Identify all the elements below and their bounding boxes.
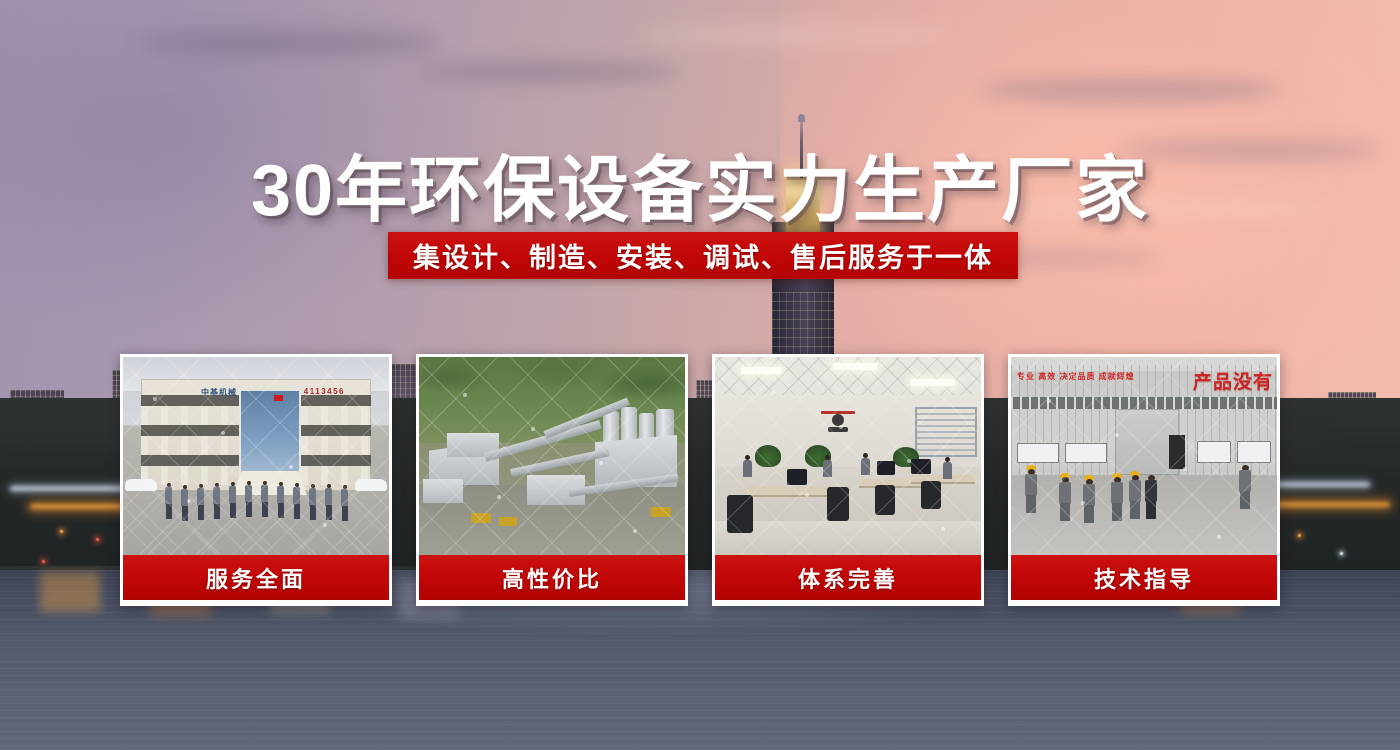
cloud (420, 62, 680, 82)
tower-mast-tip (798, 114, 805, 122)
card-photo-open-plan-office-interior-staff (715, 357, 981, 555)
card-caption-label: 高性价比 (502, 562, 602, 594)
card-caption: 服务全面 (123, 555, 389, 600)
feature-card[interactable]: 产品没有 专业 高效 决定品质 成就辉煌 (1008, 354, 1280, 606)
card-caption: 高性价比 (419, 555, 685, 600)
cloud (980, 78, 1280, 102)
subtitle-text: 集设计、制造、安装、调试、售后服务于一体 (413, 236, 993, 275)
card-photo-factory-workers-briefing-outdoors: 产品没有 专业 高效 决定品质 成就辉煌 (1011, 357, 1277, 555)
card-caption-label: 服务全面 (206, 562, 306, 594)
photo-phone-number: 4113456 (304, 387, 345, 396)
feature-card-row: 中基机械 4113456 (120, 354, 1280, 606)
card-caption-label: 技术指导 (1094, 562, 1194, 594)
factory-wall-slogan-small: 专业 高效 决定品质 成就辉煌 (1017, 371, 1135, 382)
photo-company-sign: 中基机械 (201, 387, 237, 398)
card-caption: 技术指导 (1011, 555, 1277, 600)
wall-decal-icon (819, 409, 857, 435)
factory-wall-slogan: 产品没有 (1193, 367, 1273, 394)
cloud (140, 30, 440, 56)
water-reflection (40, 572, 100, 612)
feature-card[interactable]: 中基机械 4113456 (120, 354, 392, 606)
card-caption-label: 体系完善 (798, 562, 898, 594)
subtitle-banner: 集设计、制造、安装、调试、售后服务于一体 (388, 232, 1018, 279)
card-caption: 体系完善 (715, 555, 981, 600)
card-photo-aerial-view-industrial-plant (419, 357, 685, 555)
feature-card[interactable]: 体系完善 (712, 354, 984, 606)
headline: 30年环保设备实力生产厂家 (0, 131, 1400, 236)
promo-banner: 30年环保设备实力生产厂家 集设计、制造、安装、调试、售后服务于一体 中基机械 … (0, 0, 1400, 750)
card-photo-company-office-building-with-staff: 中基机械 4113456 (123, 357, 389, 555)
feature-card[interactable]: 高性价比 (416, 354, 688, 606)
cloud (640, 24, 960, 46)
